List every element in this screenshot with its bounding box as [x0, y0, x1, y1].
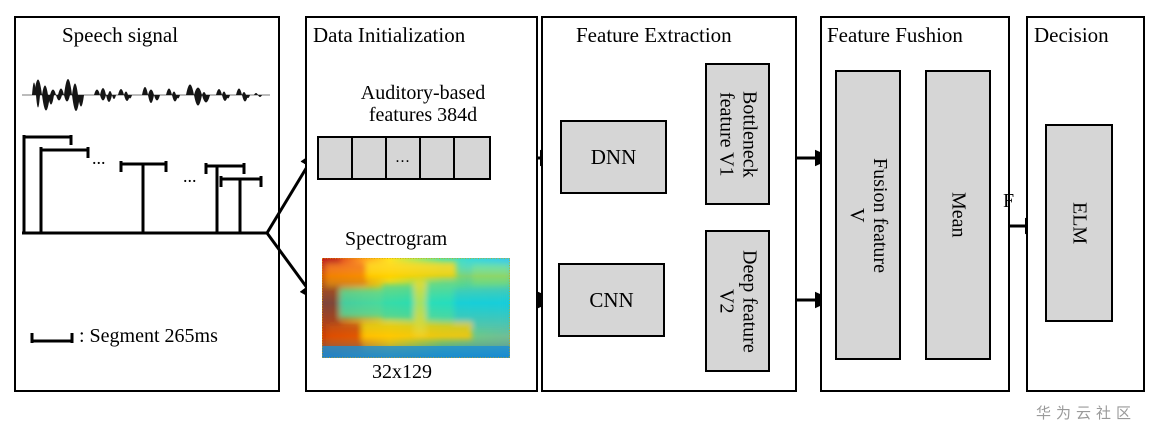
panel-title-data-initialization: Data Initialization [313, 25, 465, 46]
cnn-block: CNN [558, 263, 665, 337]
mean-block: Mean [925, 70, 991, 360]
fusion-feature-block: Fusion feature V [835, 70, 901, 360]
fusion-output-symbol: F [1003, 190, 1014, 212]
feature-cell [353, 138, 387, 178]
spectrogram-size-label: 32x129 [372, 361, 432, 383]
segment-ellipsis-1: ... [92, 148, 106, 168]
panel-title-feature-extraction: Feature Extraction [576, 25, 732, 46]
bottleneck-feature-block: Bottleneck feature V1 [705, 63, 770, 205]
elm-block: ELM [1045, 124, 1113, 322]
feature-cell-ellipsis: ... [387, 138, 421, 178]
panel-title-decision: Decision [1034, 25, 1109, 46]
segment-ellipsis-2: ... [183, 166, 197, 186]
spectrogram-title: Spectrogram [345, 228, 447, 250]
dnn-block: DNN [560, 120, 667, 194]
elm-label: ELM [1068, 202, 1091, 244]
mean-label: Mean [947, 192, 970, 238]
auditory-features-label: Auditory-based features 384d [333, 82, 513, 127]
spectrogram-image [322, 258, 510, 358]
deep-feature-block: Deep feature V2 [705, 230, 770, 372]
deep-feature-label: Deep feature V2 [715, 250, 761, 353]
watermark: 华为云社区 [1036, 402, 1136, 423]
feature-vector-cells: ... [317, 136, 491, 180]
diagram-canvas: Speech signal [0, 0, 1156, 429]
segment-legend-text: : Segment 265ms [79, 325, 218, 347]
auditory-features-line1: Auditory-based [333, 82, 513, 104]
feature-cell [455, 138, 489, 178]
bottleneck-feature-label: Bottleneck feature V1 [715, 91, 761, 178]
speech-waveform [22, 62, 270, 128]
panel-title-feature-fusion: Feature Fushion [827, 25, 963, 46]
feature-cell [319, 138, 353, 178]
panel-title-speech-signal: Speech signal [62, 25, 178, 46]
feature-cell [421, 138, 455, 178]
auditory-features-line2: features 384d [333, 104, 513, 126]
fusion-feature-label: Fusion feature V [845, 158, 891, 273]
